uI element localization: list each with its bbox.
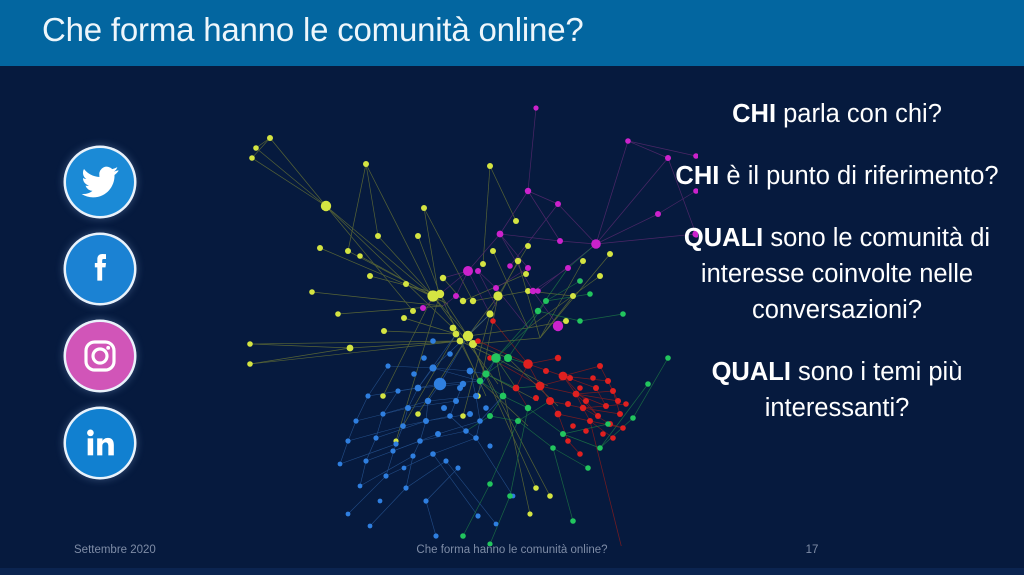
- linkedin-icon[interactable]: [66, 409, 134, 477]
- question-4: QUALI sono i temi più interessanti?: [660, 354, 1014, 426]
- question-1-rest: parla con chi?: [776, 100, 942, 128]
- question-3-lead: QUALI: [684, 224, 763, 252]
- twitter-icon[interactable]: [66, 148, 134, 216]
- footer-page-number: 17: [300, 544, 1024, 556]
- question-1: CHI parla con chi?: [660, 96, 1014, 132]
- page-title: Che forma hanno le comunità online?: [42, 11, 584, 49]
- network-graph: [228, 96, 698, 546]
- social-icon-rail: [66, 148, 134, 496]
- question-2-rest: è il punto di riferimento?: [719, 162, 998, 190]
- instagram-icon[interactable]: [66, 322, 134, 390]
- question-4-lead: QUALI: [712, 358, 791, 386]
- question-3: QUALI sono le comunità di interesse coin…: [660, 220, 1014, 328]
- footer: Settembre 2020 Che forma hanno le comuni…: [0, 542, 1024, 566]
- question-2: CHI è il punto di riferimento?: [660, 158, 1014, 194]
- question-1-lead: CHI: [732, 100, 776, 128]
- bottom-strip: [0, 568, 1024, 575]
- slide: Che forma hanno le comunità online?: [0, 0, 1024, 575]
- questions-block: CHI parla con chi? CHI è il punto di rif…: [660, 96, 1014, 426]
- question-2-lead: CHI: [675, 162, 719, 190]
- facebook-icon[interactable]: [66, 235, 134, 303]
- question-4-rest: sono i temi più interessanti?: [765, 358, 963, 422]
